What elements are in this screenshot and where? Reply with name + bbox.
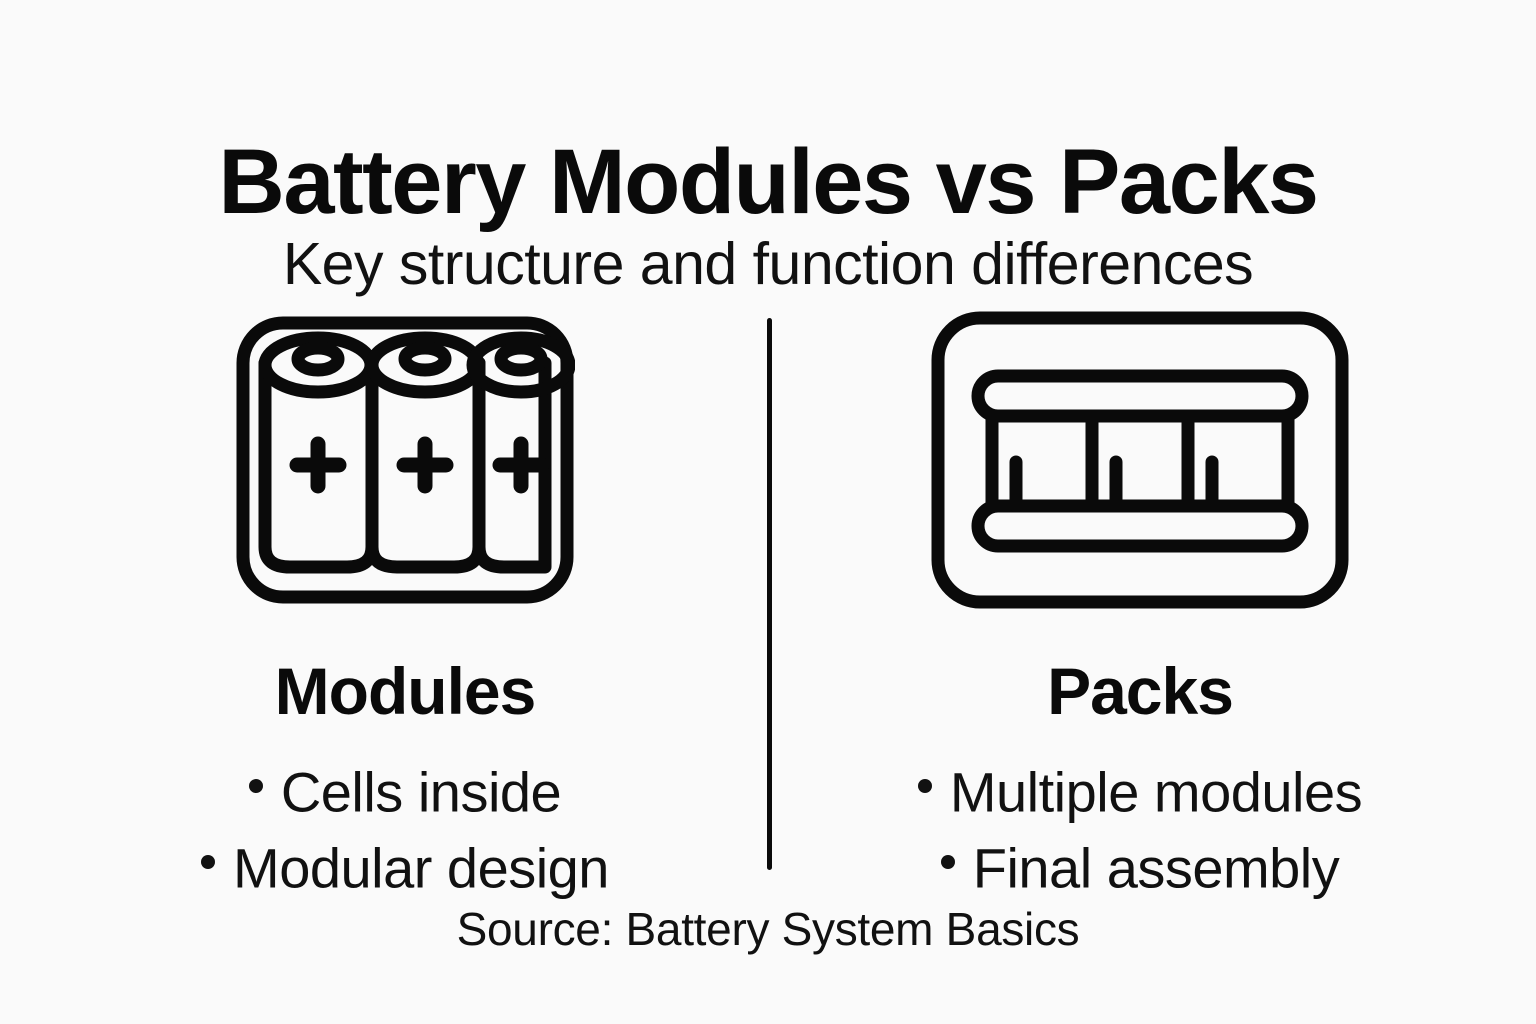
page-subtitle: Key structure and function differences xyxy=(0,235,1536,294)
bullet-list-packs: Multiple modules Final assembly xyxy=(790,752,1490,904)
battery-pack-enclosure-icon xyxy=(790,300,1490,620)
list-item: Multiple modules xyxy=(790,752,1490,828)
page-title: Battery Modules vs Packs xyxy=(0,136,1536,228)
bullet-list-modules: Cells inside Modular design xyxy=(55,752,755,904)
source-caption: Source: Battery System Basics xyxy=(0,902,1536,956)
list-item: Modular design xyxy=(55,828,755,904)
bullet-dot-icon xyxy=(201,855,215,869)
bullet-text: Cells inside xyxy=(281,760,561,823)
bullet-text: Multiple modules xyxy=(950,760,1362,823)
bullet-text: Final assembly xyxy=(973,836,1339,899)
bullet-dot-icon xyxy=(941,855,955,869)
battery-module-cells-icon xyxy=(55,300,755,620)
bullet-dot-icon xyxy=(918,779,932,793)
column-divider xyxy=(767,318,772,870)
infographic-canvas: Battery Modules vs Packs Key structure a… xyxy=(0,0,1536,1024)
list-item: Cells inside xyxy=(55,752,755,828)
column-packs: Packs Multiple modules Final assembly xyxy=(790,300,1490,904)
bullet-dot-icon xyxy=(249,779,263,793)
list-item: Final assembly xyxy=(790,828,1490,904)
column-heading-packs: Packs xyxy=(790,658,1490,724)
bullet-text: Modular design xyxy=(233,836,609,899)
column-heading-modules: Modules xyxy=(55,658,755,724)
column-modules: Modules Cells inside Modular design xyxy=(55,300,755,904)
